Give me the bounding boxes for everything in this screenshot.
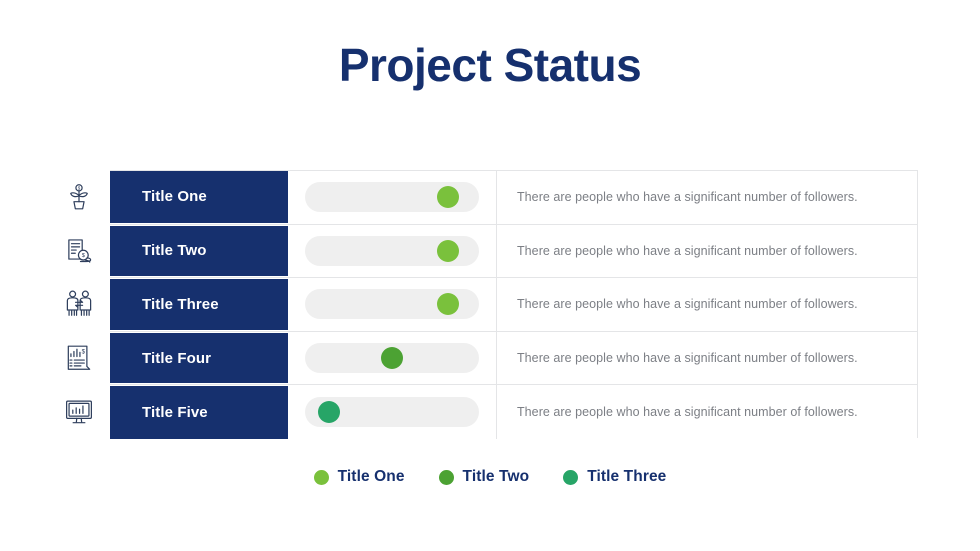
legend-item-title-one[interactable]: Title One <box>314 468 405 486</box>
progress-track-cell[interactable] <box>288 278 497 331</box>
legend-label: Title Three <box>587 468 666 486</box>
row-description: There are people who have a significant … <box>497 332 917 385</box>
monitor-chart-icon <box>62 395 96 429</box>
row-label: Title Two <box>110 225 288 278</box>
progress-track[interactable] <box>305 289 479 319</box>
progress-track[interactable] <box>305 236 479 266</box>
svg-text:$: $ <box>82 350 86 356</box>
progress-track-cell[interactable] <box>288 225 497 278</box>
invoice-money-icon: $ <box>62 234 96 268</box>
legend-label: Title Two <box>463 468 530 486</box>
legend-color-swatch-icon <box>439 470 454 485</box>
project-status-table: $ Title One There are people who have a … <box>110 170 918 438</box>
table-row: $ Title Four There are people who have a… <box>110 332 917 386</box>
progress-track[interactable] <box>305 397 479 427</box>
progress-handle[interactable] <box>437 240 459 262</box>
progress-handle[interactable] <box>437 293 459 315</box>
people-exchange-icon <box>62 287 96 321</box>
progress-handle[interactable] <box>318 401 340 423</box>
row-label: Title Four <box>110 332 288 385</box>
row-label: Title Five <box>110 385 288 439</box>
legend: Title One Title Two Title Three <box>0 468 980 486</box>
table-row: $ Title Two There are people who have a … <box>110 225 917 279</box>
legend-item-title-three[interactable]: Title Three <box>563 468 666 486</box>
financial-report-icon: $ <box>62 341 96 375</box>
progress-handle[interactable] <box>381 347 403 369</box>
progress-handle[interactable] <box>437 186 459 208</box>
progress-track-cell[interactable] <box>288 332 497 385</box>
progress-track-cell[interactable] <box>288 385 497 439</box>
progress-track[interactable] <box>305 343 479 373</box>
row-description: There are people who have a significant … <box>497 278 917 331</box>
legend-color-swatch-icon <box>314 470 329 485</box>
row-description: There are people who have a significant … <box>497 385 917 439</box>
slide-canvas: Project Status $ Title One There <box>0 0 980 551</box>
progress-track-cell[interactable] <box>288 171 497 224</box>
table-row: $ Title One There are people who have a … <box>110 171 917 225</box>
row-description: There are people who have a significant … <box>497 171 917 224</box>
svg-text:$: $ <box>78 186 81 191</box>
row-label: Title One <box>110 171 288 224</box>
legend-color-swatch-icon <box>563 470 578 485</box>
row-label: Title Three <box>110 278 288 331</box>
progress-track[interactable] <box>305 182 479 212</box>
table-row: Title Three There are people who have a … <box>110 278 917 332</box>
page-title: Project Status <box>0 38 980 92</box>
table-row: Title Five There are people who have a s… <box>110 385 917 439</box>
row-description: There are people who have a significant … <box>497 225 917 278</box>
money-plant-icon: $ <box>62 180 96 214</box>
legend-label: Title One <box>338 468 405 486</box>
legend-item-title-two[interactable]: Title Two <box>439 468 530 486</box>
